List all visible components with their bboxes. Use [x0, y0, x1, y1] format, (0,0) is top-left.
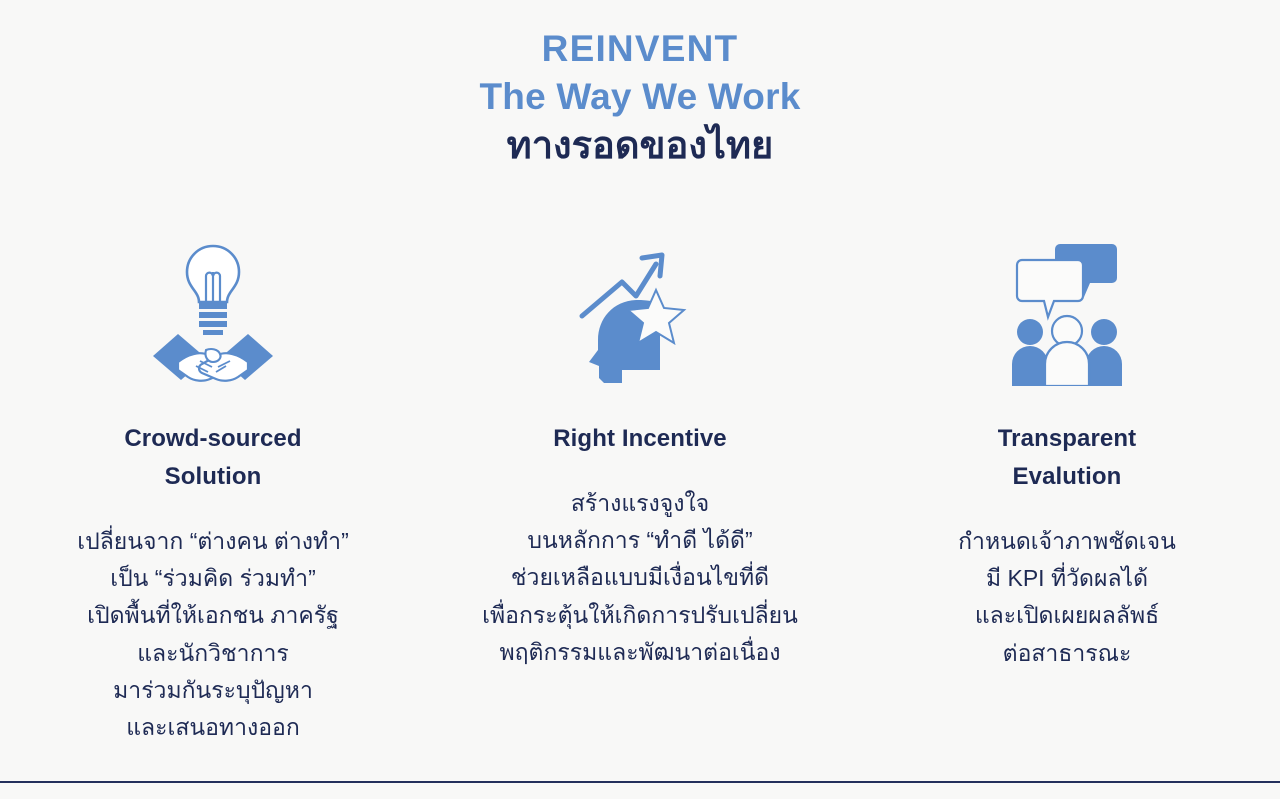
feature-column-transparent-evaluation: Transparent Evalution กำหนดเจ้าภาพชัดเจน…	[854, 236, 1280, 672]
page-title-reinvent: REINVENT	[0, 26, 1280, 71]
feature-heading: Right Incentive	[553, 420, 727, 458]
slide-root: REINVENT The Way We Work ทางรอดของไทย	[0, 0, 1280, 799]
page-title-subtitle-th: ทางรอดของไทย	[0, 123, 1280, 169]
feature-body-text: สร้างแรงจูงใจ บนหลักการ “ทำดี ได้ดี” ช่ว…	[482, 485, 798, 671]
page-title-subtitle-en: The Way We Work	[0, 74, 1280, 119]
people-speech-bubbles-icon	[987, 236, 1147, 388]
feature-body-text: เปลี่ยนจาก “ต่างคน ต่างทำ” เป็น “ร่วมคิด…	[77, 523, 349, 747]
feature-body-text: กำหนดเจ้าภาพชัดเจน มี KPI ที่วัดผลได้ แล…	[958, 523, 1176, 672]
lightbulb-handshake-icon	[133, 236, 293, 388]
feature-heading: Crowd-sourced Solution	[124, 420, 301, 496]
feature-column-right-incentive: Right Incentive สร้างแรงจูงใจ บนหลักการ …	[427, 236, 853, 671]
head-star-growth-arrow-icon	[560, 236, 720, 388]
feature-heading: Transparent Evalution	[998, 420, 1136, 496]
feature-columns: Crowd-sourced Solution เปลี่ยนจาก “ต่างค…	[0, 236, 1280, 746]
feature-column-crowd-sourced-solution: Crowd-sourced Solution เปลี่ยนจาก “ต่างค…	[0, 236, 426, 746]
title-block: REINVENT The Way We Work ทางรอดของไทย	[0, 26, 1280, 170]
bottom-divider	[0, 781, 1280, 783]
